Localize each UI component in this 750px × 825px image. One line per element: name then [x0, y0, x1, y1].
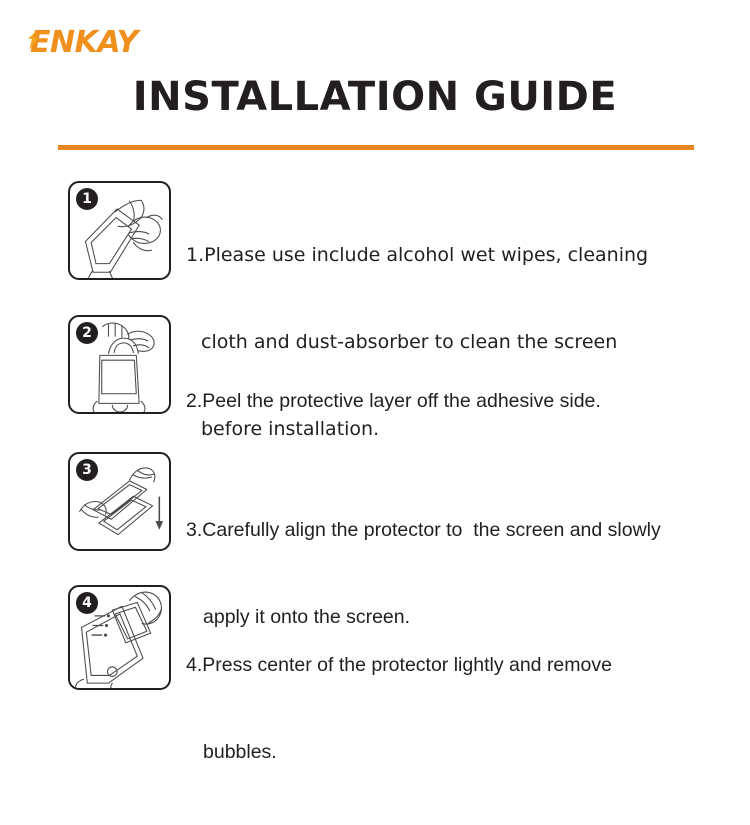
- step-text-line: 1.Please use include alcohol wet wipes, …: [186, 241, 656, 270]
- step-1-illustration-box: 1: [68, 181, 171, 280]
- page-title: INSTALLATION GUIDE: [0, 74, 750, 120]
- step-text-line: bubbles.: [186, 738, 696, 767]
- step-number-badge: 1: [76, 188, 98, 210]
- header-divider: [58, 145, 694, 150]
- step-number-badge: 4: [76, 592, 98, 614]
- step-2-illustration-box: 2: [68, 315, 171, 414]
- step-text-line: 2.Peel the protective layer off the adhe…: [186, 387, 686, 416]
- step-4-illustration-box: 4: [68, 585, 171, 690]
- step-number-badge: 3: [76, 459, 98, 481]
- logo-spark-icon: [27, 30, 39, 50]
- step-2-text: 2.Peel the protective layer off the adhe…: [186, 329, 686, 474]
- brand-name: ENKAY: [30, 28, 138, 58]
- step-text-line: 3.Carefully align the protector to the s…: [186, 516, 706, 545]
- step-4-text: 4.Press center of the protector lightly …: [186, 593, 696, 825]
- brand-logo: ENKAY: [30, 26, 138, 60]
- step-text-line: 4.Press center of the protector lightly …: [186, 651, 696, 680]
- step-3-illustration-box: 3: [68, 452, 171, 551]
- step-number-badge: 2: [76, 322, 98, 344]
